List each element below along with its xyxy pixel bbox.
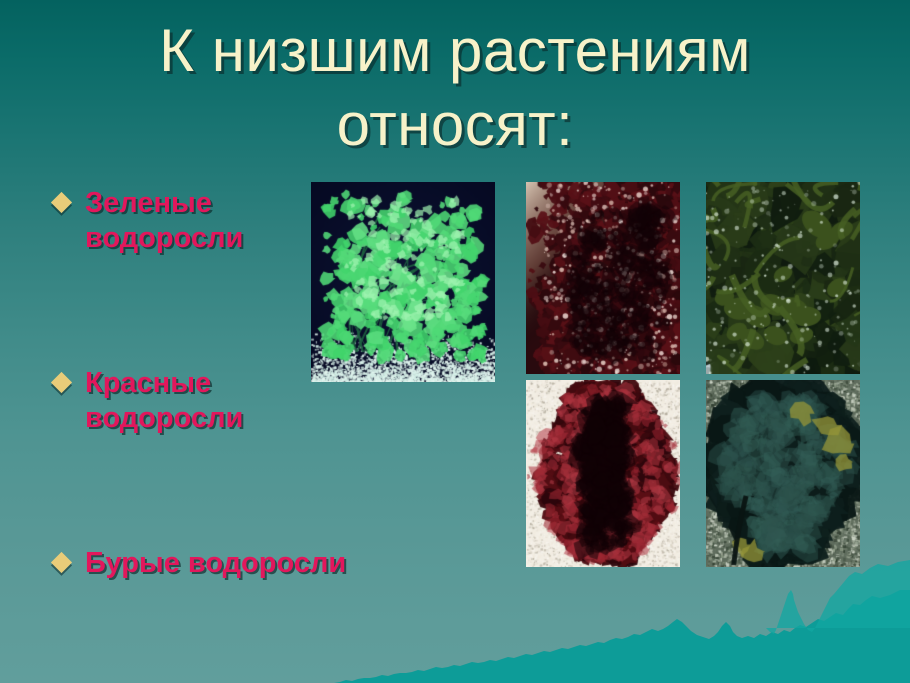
brown-algae-photo-top [706, 182, 860, 374]
list-item-green-algae[interactable]: Зеленые водоросли [54, 186, 243, 256]
wave-ridge [0, 590, 910, 683]
brown-algae-photo-top-image [706, 182, 860, 374]
diamond-bullet-icon [51, 192, 72, 213]
red-algae-photo-bottom-image [526, 380, 680, 567]
list-item-brown-algae[interactable]: Бурые водоросли [54, 546, 346, 581]
wave-ridge-back [766, 560, 910, 634]
diamond-bullet-icon [51, 372, 72, 393]
red-algae-photo-bottom [526, 380, 680, 567]
green-algae-photo-image [311, 182, 495, 382]
list-item-label: Красные водоросли [85, 366, 243, 436]
diamond-bullet-icon [51, 552, 72, 573]
page-title: К низшим растениям относят: [0, 14, 910, 162]
brown-algae-photo-bottom-image [706, 380, 860, 567]
red-algae-photo-top [526, 182, 680, 374]
slide-canvas: К низшим растениям относят: Зеленые водо… [0, 0, 910, 683]
list-item-label: Бурые водоросли [85, 546, 346, 581]
red-algae-photo-top-image [526, 182, 680, 374]
brown-algae-photo-bottom [706, 380, 860, 567]
list-item-red-algae[interactable]: Красные водоросли [54, 366, 243, 436]
green-algae-photo [311, 182, 495, 382]
list-item-label: Зеленые водоросли [85, 186, 243, 256]
